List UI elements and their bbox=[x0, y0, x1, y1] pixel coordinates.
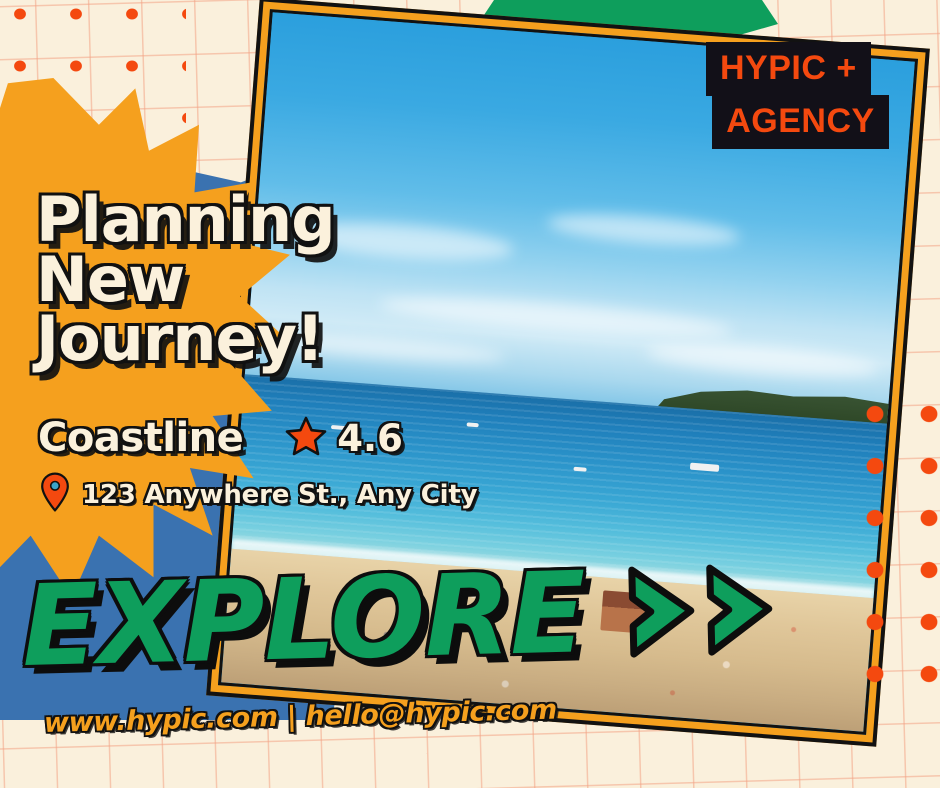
double-chevron-right-icon bbox=[614, 556, 796, 664]
brand-line-1: HYPIC + bbox=[706, 42, 871, 96]
photo-boat bbox=[467, 422, 479, 427]
place-summary-row: Coastline 4.6 bbox=[38, 415, 403, 461]
rating-value: 4.6 bbox=[337, 417, 403, 460]
explore-label: EXPLORE bbox=[21, 557, 587, 683]
headline-line-1: Planning bbox=[36, 190, 436, 250]
location-pin-icon bbox=[40, 472, 70, 517]
star-icon bbox=[285, 416, 327, 461]
brand-line-2: AGENCY bbox=[712, 95, 888, 149]
place-name: Coastline bbox=[38, 415, 243, 461]
headline-line-2: New bbox=[36, 250, 436, 310]
headline-line-3: Journey! bbox=[36, 309, 436, 369]
poster-canvas: Planning New Journey! Coastline 4.6 123 … bbox=[0, 0, 940, 788]
brand-badge: HYPIC + AGENCY bbox=[706, 42, 871, 149]
page-title: Planning New Journey! bbox=[36, 190, 436, 369]
address-text: 123 Anywhere St., Any City bbox=[82, 480, 477, 510]
explore-cta[interactable]: EXPLORE bbox=[21, 549, 923, 683]
address-row: 123 Anywhere St., Any City bbox=[40, 472, 477, 517]
rating-badge: 4.6 bbox=[285, 416, 403, 461]
